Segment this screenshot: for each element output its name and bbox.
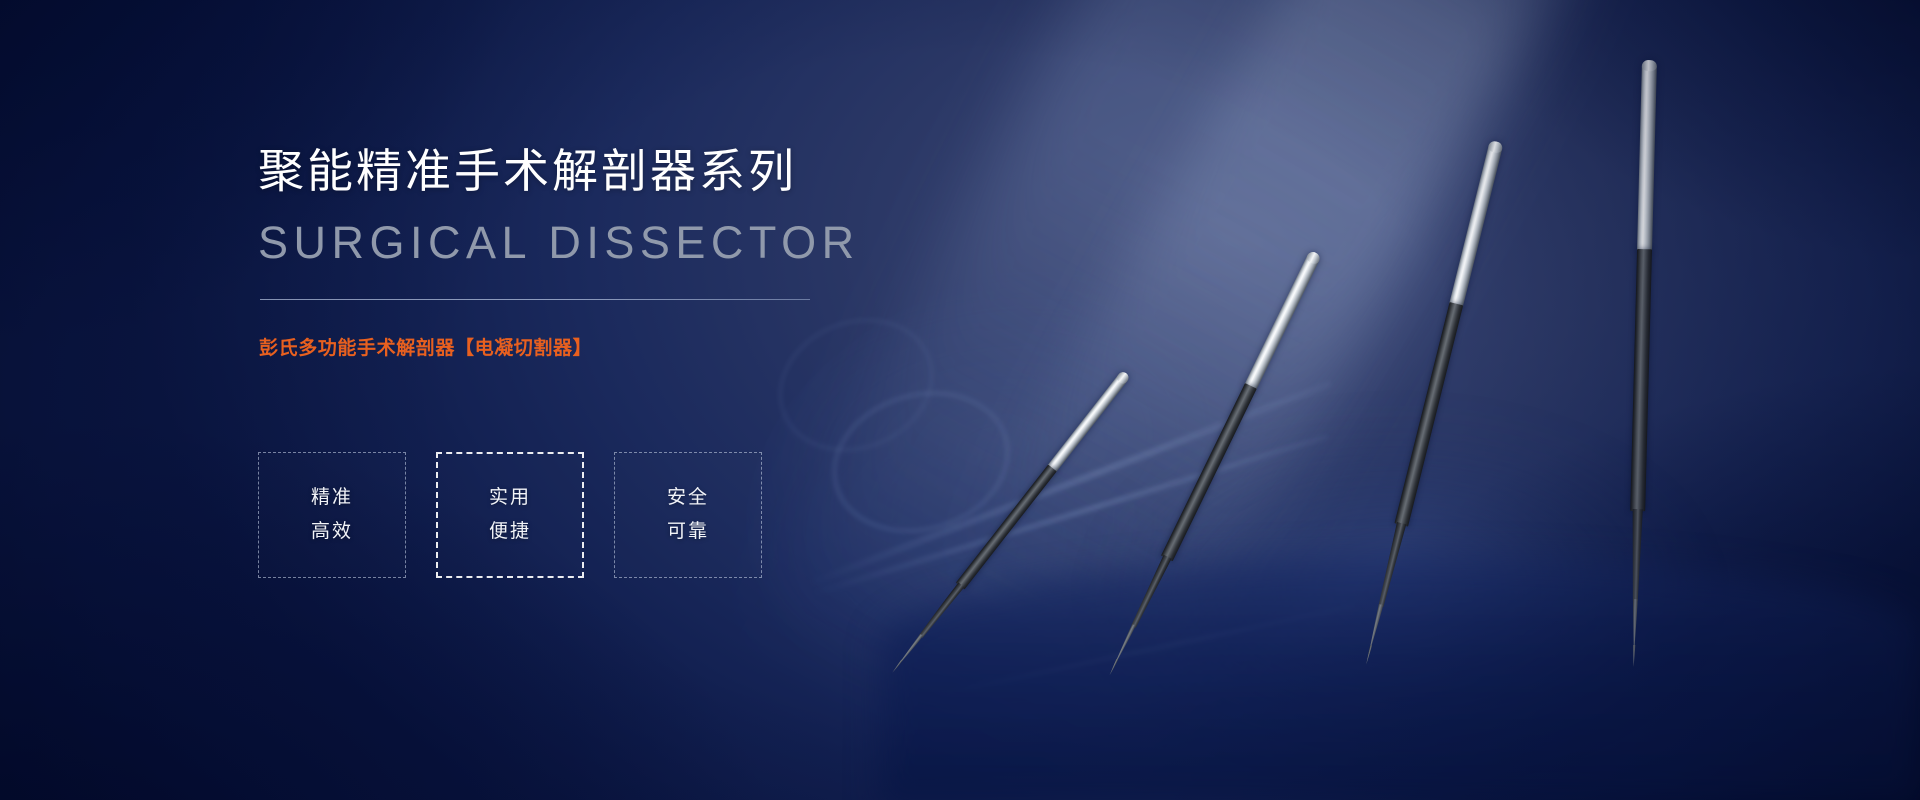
banner-title-cn: 聚能精准手术解剖器系列 [258,142,797,200]
feature-box-practical-line1: 实用 [489,481,531,515]
feature-box-practical[interactable]: 实用 便捷 [436,452,584,578]
instrument-3-taper [1376,522,1406,608]
feature-box-precision-line2: 高效 [311,515,353,549]
instrument-4-black-shaft [1630,249,1652,511]
instrument-4-silver-handle [1637,60,1657,252]
feature-box-row: 精准 高效 实用 便捷 安全 可靠 [258,452,762,578]
instrument-3-black-shaft [1394,302,1463,527]
product-hero-banner: 聚能精准手术解剖器系列 SURGICAL DISSECTOR 彭氏多功能手术解剖… [0,0,1920,800]
instrument-4-needle-point [1632,645,1635,667]
feature-box-precision-line1: 精准 [311,481,353,515]
title-divider [260,299,810,300]
banner-text-block: 聚能精准手术解剖器系列 SURGICAL DISSECTOR 彭氏多功能手术解剖… [258,0,958,800]
instrument-3-silver-handle [1449,140,1504,308]
instrument-2-black-shaft [1161,383,1257,561]
feature-box-safety[interactable]: 安全 可靠 [614,452,762,578]
instrument-2-silver-handle [1244,250,1321,391]
banner-title-en: SURGICAL DISSECTOR [258,216,860,270]
banner-subtitle: 彭氏多功能手术解剖器【电凝切割器】 [259,336,592,362]
feature-box-safety-line2: 可靠 [667,515,709,549]
feature-box-safety-line1: 安全 [667,481,709,515]
instrument-4-taper [1630,509,1643,601]
instrument-4-needle [1632,599,1638,647]
feature-box-practical-line2: 便捷 [489,515,531,549]
product-image-instruments [1140,40,1920,760]
feature-box-precision[interactable]: 精准 高效 [258,452,406,578]
instrument-3-needle-point [1365,645,1372,665]
instrument-3-needle [1368,604,1383,648]
